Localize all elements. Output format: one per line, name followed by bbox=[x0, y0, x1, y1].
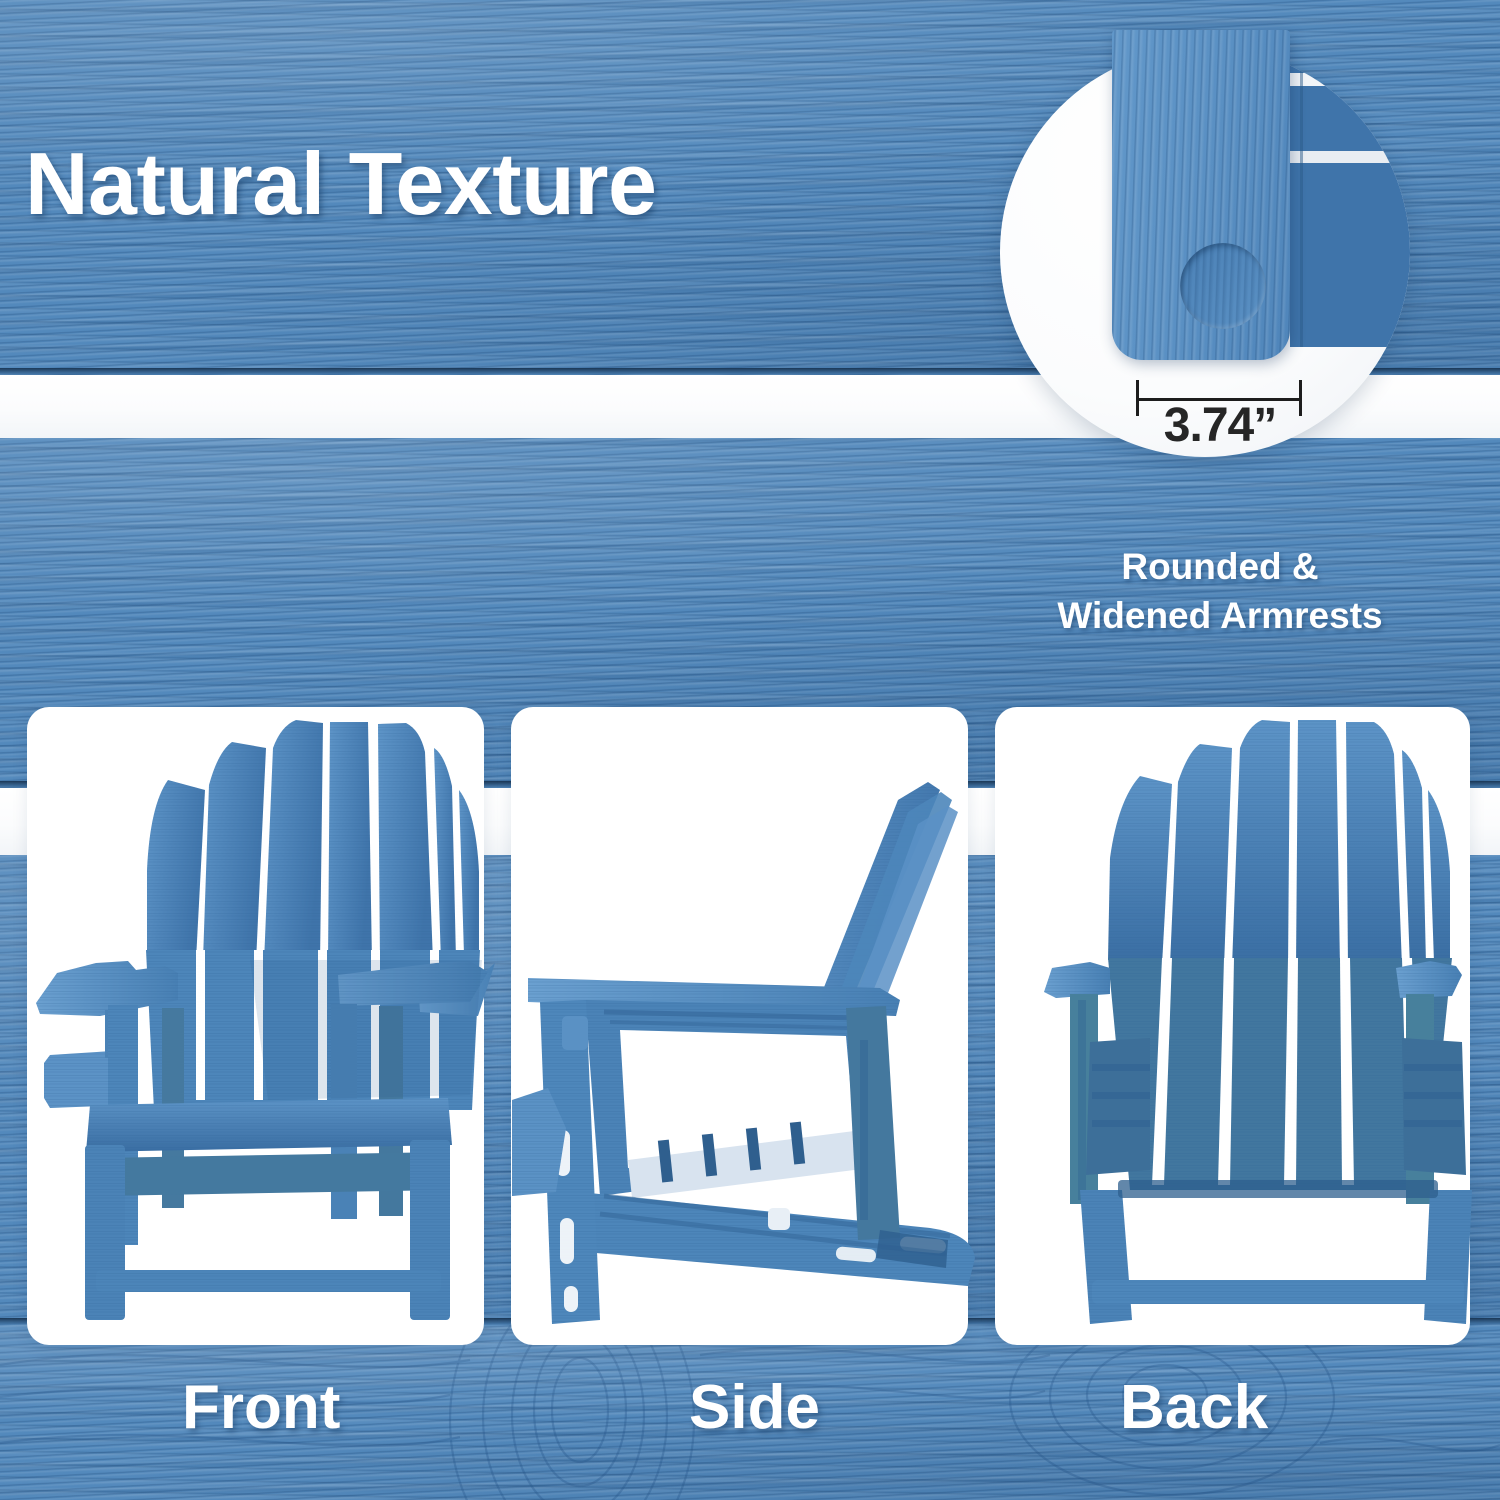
card-label-front: Front bbox=[27, 1372, 484, 1443]
dimension-value: 3.74” bbox=[1132, 398, 1308, 453]
callout-caption: Rounded & Widened Armrests bbox=[1010, 543, 1430, 641]
product-feature-image: Natural Texture 3.74” Rounded & Widened … bbox=[0, 0, 1500, 1500]
callout-caption-line1: Rounded & bbox=[1010, 543, 1430, 592]
cup-holder-hole-icon bbox=[1180, 243, 1266, 329]
card-label-back: Back bbox=[995, 1372, 1470, 1443]
card-side bbox=[511, 707, 968, 1345]
card-front bbox=[27, 707, 484, 1345]
callout-caption-line2: Widened Armrests bbox=[1010, 592, 1430, 641]
card-label-side: Side bbox=[511, 1372, 968, 1443]
card-back bbox=[995, 707, 1470, 1345]
page-title: Natural Texture bbox=[25, 138, 657, 230]
